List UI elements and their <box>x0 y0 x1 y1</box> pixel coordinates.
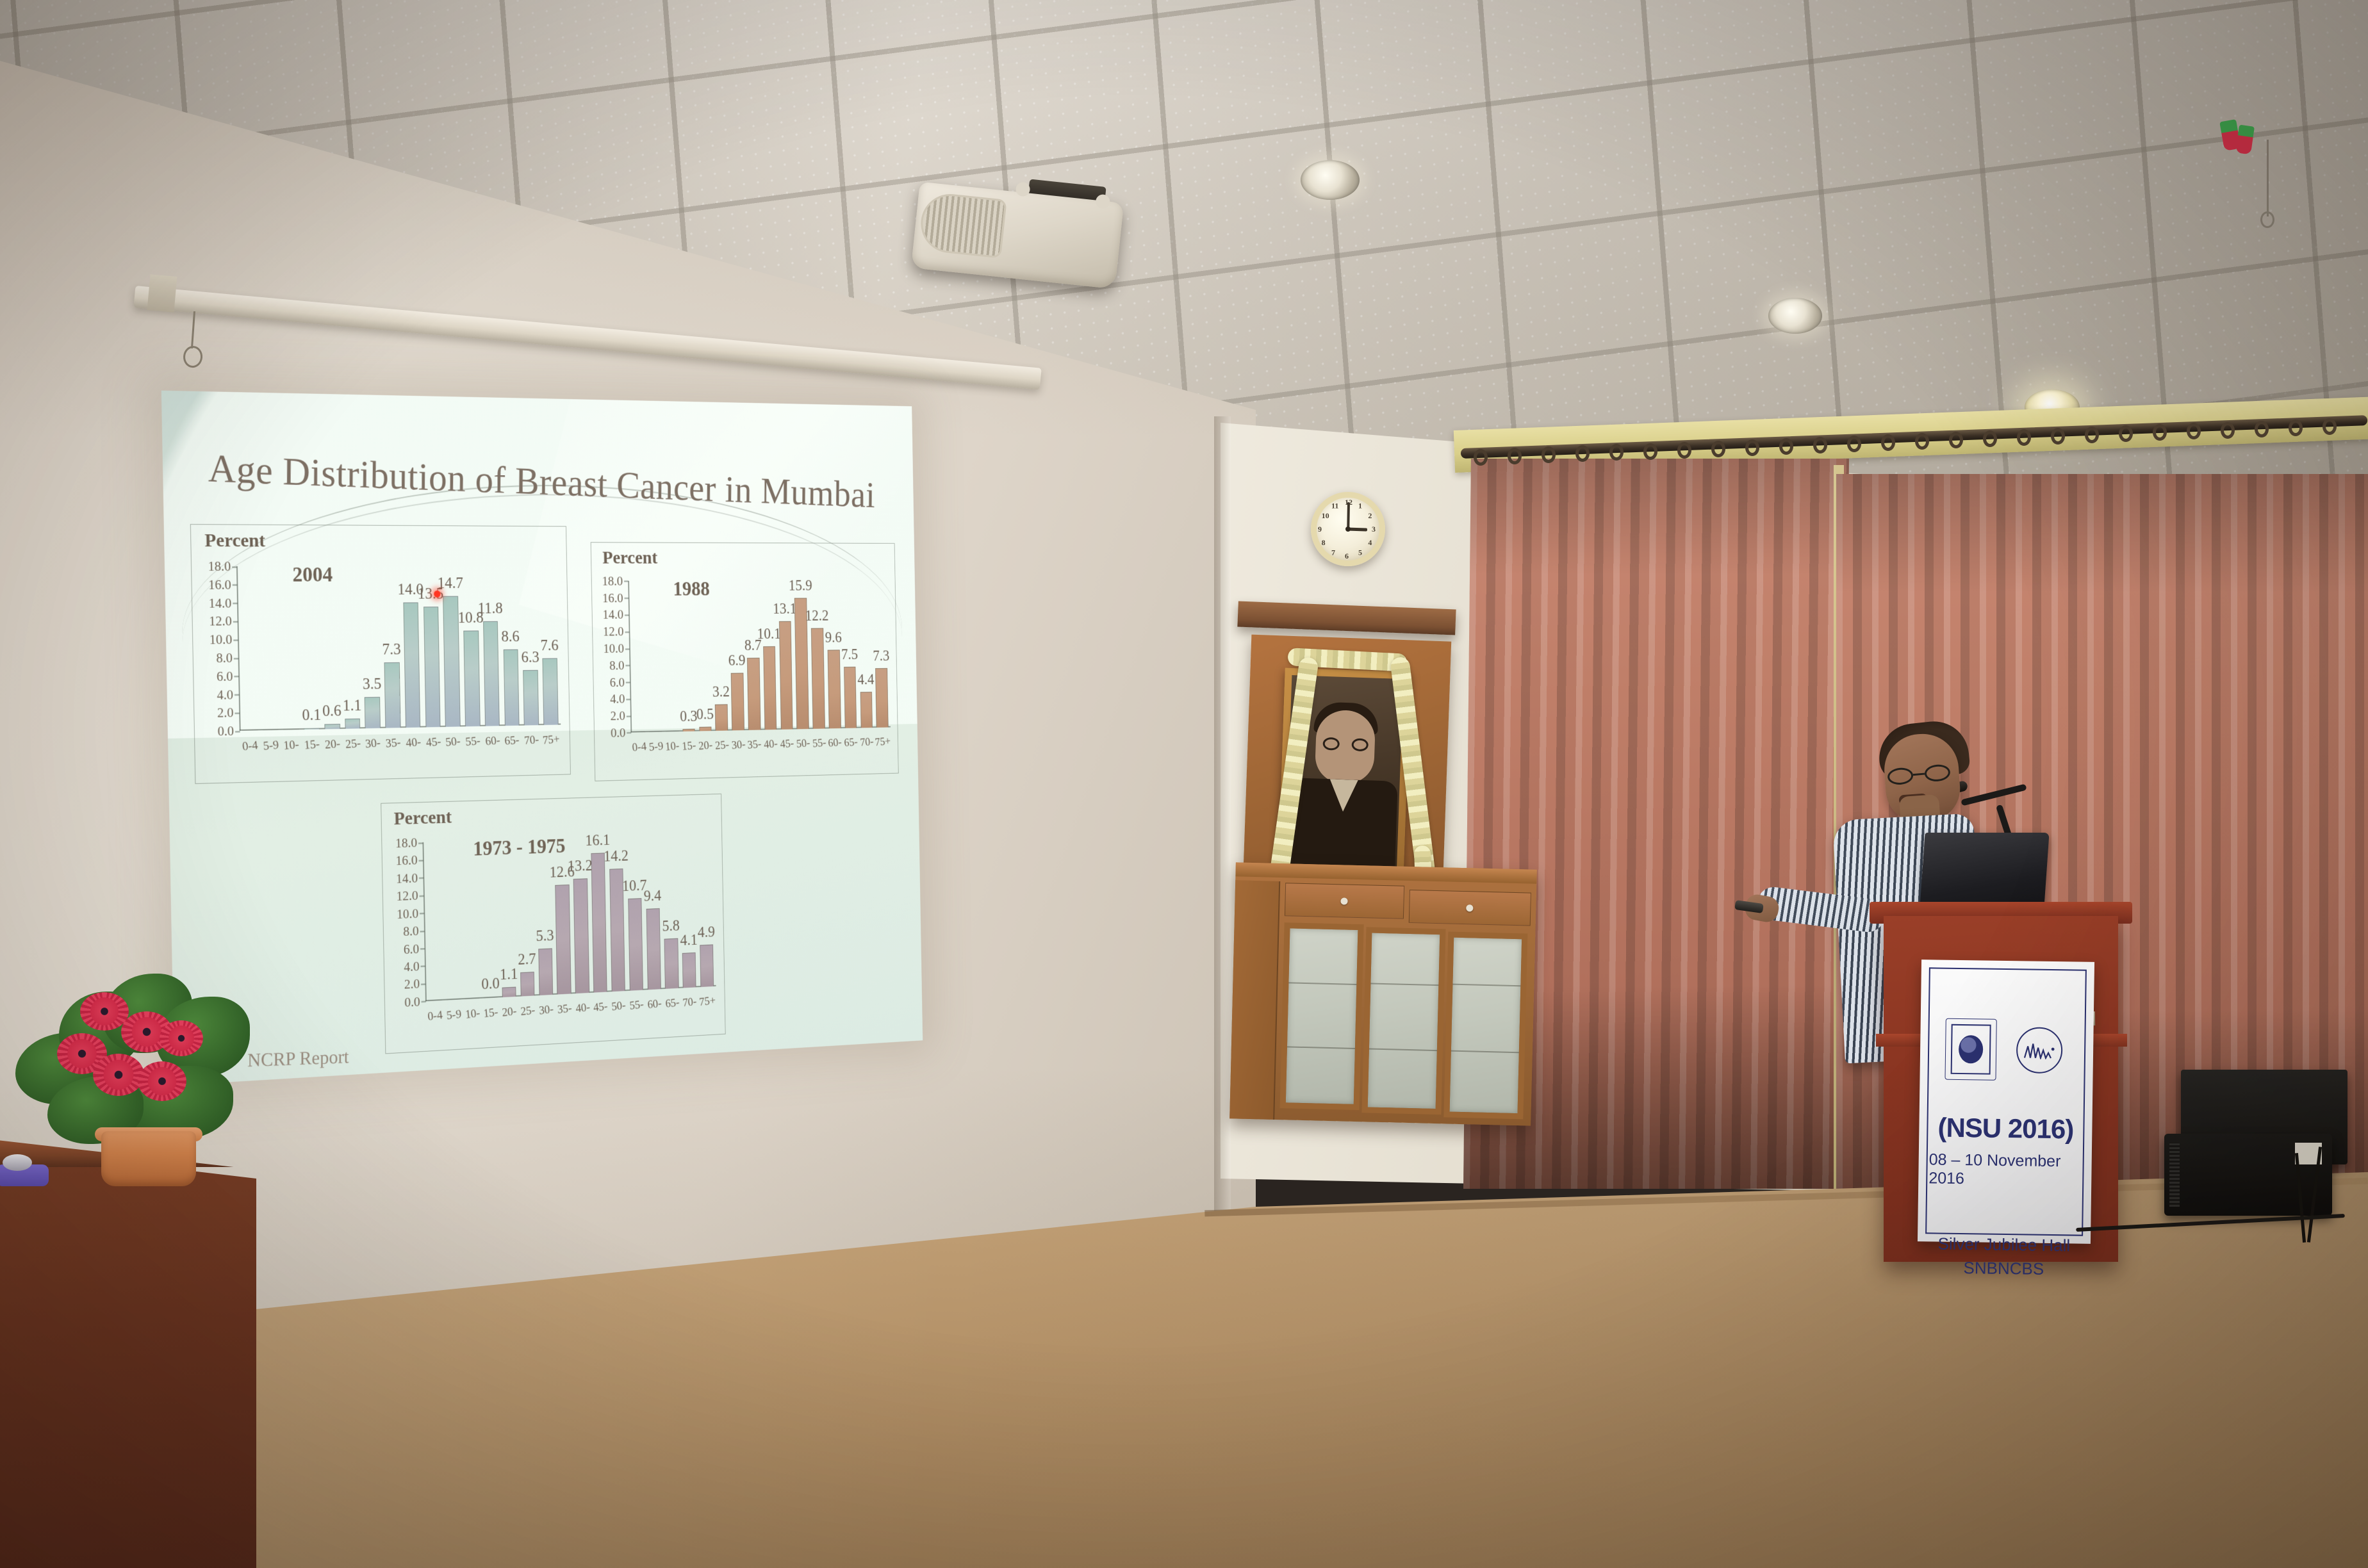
chart-panel-2004: Percent 2004 0.02.04.06.08.010.012.014.0… <box>190 524 571 784</box>
bar-cell: 0.6 <box>319 566 343 730</box>
bar-value-label: 4.4 <box>857 672 874 689</box>
sign-logo-row <box>1951 1024 2063 1075</box>
bar-value-label: 7.3 <box>873 648 889 664</box>
bar <box>465 998 479 999</box>
clock-numeral: 3 <box>1372 525 1376 534</box>
bar <box>345 719 360 729</box>
x-tick-label: 20- <box>322 737 343 753</box>
bar <box>828 649 841 728</box>
bar <box>715 704 728 731</box>
x-tick-label: 45- <box>591 999 611 1015</box>
bar-cell <box>278 566 302 730</box>
chart-plot-area-1973: 0.02.04.06.08.010.012.014.016.018.0 0.01… <box>422 833 716 1001</box>
bar-value-label: 3.5 <box>363 676 382 694</box>
bar <box>779 621 793 730</box>
x-tick-label: 0-4 <box>425 1008 445 1024</box>
bar-cell: 4.1 <box>678 833 698 988</box>
bar <box>520 972 534 996</box>
curtain-ring <box>1779 438 1793 455</box>
bar-value-label: 1.1 <box>500 966 518 984</box>
y-tick-label: 16.0 <box>395 853 423 869</box>
wall-corner <box>1214 416 1231 1217</box>
x-tick-label: 60- <box>645 997 664 1012</box>
clock-numeral: 8 <box>1322 538 1326 548</box>
x-tick-label: 25- <box>713 739 730 753</box>
bar <box>811 628 825 729</box>
curtain-ring <box>1813 437 1827 453</box>
cabinet-glass-door[interactable] <box>1443 931 1527 1119</box>
flower-bloom <box>142 1066 182 1097</box>
clock-numeral: 2 <box>1368 511 1372 521</box>
y-tick-label: 8.0 <box>216 649 238 666</box>
sign-event-dates: 08 – 10 November 2016 <box>1928 1150 2082 1189</box>
desk-object[interactable] <box>0 1164 49 1186</box>
glasses-lens <box>1924 764 1951 782</box>
bar-value-label: 1.1 <box>343 698 362 715</box>
y-tick-label: 14.0 <box>602 607 629 623</box>
bar <box>699 727 712 731</box>
y-tick-label: 0.0 <box>404 993 425 1010</box>
x-tick-label: 5-9 <box>647 740 665 755</box>
x-tick-label: 35- <box>746 738 763 753</box>
chart-axis-label: Percent <box>393 807 452 830</box>
x-tick-label: 30- <box>363 736 384 751</box>
curtain-ring <box>1949 432 1963 448</box>
bar-cell: 13.2 <box>570 837 591 993</box>
x-tick-label: 15- <box>680 739 698 754</box>
sn-bose-centre-logo-icon <box>1951 1024 1991 1075</box>
clock-numeral: 4 <box>1368 538 1372 548</box>
bar <box>731 673 744 731</box>
bar-value-label: 6.9 <box>728 653 746 669</box>
bar <box>283 729 299 730</box>
bar-value-label: 0.3 <box>680 708 698 726</box>
bar <box>242 730 258 731</box>
cabinet-side-panel <box>1229 880 1280 1120</box>
x-tick-label: 15- <box>481 1005 501 1021</box>
x-tick-label: 30- <box>730 738 747 753</box>
bar-cell: 4.9 <box>696 833 716 987</box>
y-tick-label: 2.0 <box>404 976 425 992</box>
sign-hall-name: Silver Jubilee Hall <box>1937 1234 2070 1256</box>
bar-value-label: 7.6 <box>540 637 558 655</box>
x-tick-label: 50- <box>794 737 812 751</box>
y-tick-label: 6.0 <box>217 668 239 684</box>
curtain-ring <box>1711 441 1725 457</box>
y-tick-label: 10.0 <box>209 632 238 648</box>
x-tick-label: 30- <box>536 1002 555 1018</box>
glasses-lens <box>1887 767 1914 785</box>
lecture-hall-photo: Age Distribution of Breast Cancer in Mum… <box>0 0 2368 1568</box>
bar-cell: 2.7 <box>516 838 537 996</box>
y-tick-label: 18.0 <box>395 835 423 851</box>
bar-cell <box>422 842 444 1001</box>
bar-value-label: 7.3 <box>382 641 401 659</box>
y-tick-label: 6.0 <box>610 674 630 690</box>
curtain-ring <box>2255 421 2269 437</box>
curtain-ring <box>1847 436 1861 452</box>
cabinet-drawer[interactable] <box>1285 883 1404 919</box>
x-tick-label: 65- <box>502 733 522 749</box>
bar <box>860 692 873 728</box>
y-tick-label: 10.0 <box>603 641 629 656</box>
bar-cell: 1.1 <box>340 566 363 729</box>
cabinet-shelf-line <box>1370 983 1438 986</box>
x-tick-label: 60- <box>482 734 503 749</box>
presentation-slide: Age Distribution of Breast Cancer in Mum… <box>161 391 923 1086</box>
bar <box>483 621 500 726</box>
bar <box>403 602 420 728</box>
y-tick-label: 4.0 <box>404 958 425 975</box>
x-tick-label: 0-4 <box>239 739 261 755</box>
clock-numeral: 5 <box>1358 548 1362 557</box>
chart-axis-label: Percent <box>204 530 265 552</box>
bar <box>763 646 777 730</box>
bar-cell: 7.6 <box>538 566 561 725</box>
bar <box>591 853 607 992</box>
ceiling-wire-loop <box>2267 140 2269 216</box>
y-tick-label: 0.0 <box>217 723 240 739</box>
ultrasonic-wave-icon <box>2023 1041 2055 1059</box>
clock-numeral: 12 <box>1345 498 1353 507</box>
bar <box>646 908 661 990</box>
x-tick-label: 5-9 <box>260 739 282 755</box>
bar <box>542 658 558 725</box>
y-tick-label: 12.0 <box>396 888 423 904</box>
bar <box>682 729 695 731</box>
sign-organization: SNBNCBS <box>1963 1258 2044 1279</box>
curtain-ring <box>1915 433 1929 450</box>
curtain-ring <box>2289 420 2303 436</box>
bar-value-label: 9.4 <box>644 888 662 906</box>
bar-cell: 10.8 <box>460 566 482 726</box>
bar-cell: 9.4 <box>643 835 663 990</box>
cabinet-shelf-line <box>1369 1048 1437 1051</box>
ceiling-wire-loop-end <box>2260 211 2274 228</box>
bar-value-label: 2.7 <box>518 951 536 969</box>
x-tick-label: 20- <box>500 1004 519 1020</box>
ceiling-downlight <box>1768 298 1822 334</box>
bar <box>484 997 498 998</box>
x-tick-label: 50- <box>443 735 464 750</box>
bar-value-label: 14.7 <box>438 575 464 592</box>
chart-axis-label: Percent <box>602 548 657 568</box>
bar <box>649 731 662 732</box>
x-tick-label: 75+ <box>698 994 717 1009</box>
bar-value-label: 3.2 <box>712 683 730 701</box>
wall-clock: 121234567891011 <box>1311 492 1385 566</box>
bar-cell <box>236 566 260 731</box>
bar-cell: 5.3 <box>534 838 555 995</box>
y-tick-label: 12.0 <box>209 613 238 629</box>
bar <box>324 724 340 730</box>
bar <box>628 898 643 991</box>
bar-value-label: 4.9 <box>698 924 715 942</box>
bar-value-label: 11.8 <box>477 600 502 617</box>
y-tick-label: 14.0 <box>396 870 423 886</box>
x-tick-label: 35- <box>555 1001 574 1017</box>
flower-bloom <box>164 1025 199 1052</box>
curtain-ring <box>1643 443 1657 460</box>
x-tick-label: 10- <box>281 738 302 754</box>
bar-cell: 0.1 <box>299 566 322 730</box>
bar-value-label: 0.0 <box>481 975 500 993</box>
av-amplifier <box>2164 1134 2332 1216</box>
x-tick-label: 65- <box>843 735 859 750</box>
y-tick-label: 2.0 <box>611 708 630 723</box>
cabinet-shelf-line <box>1451 1050 1519 1054</box>
cabinet-shelf-line <box>1288 982 1356 985</box>
bar <box>503 649 519 726</box>
bar <box>523 670 539 726</box>
drawer-knob[interactable] <box>1466 904 1473 911</box>
bar-cell: 0.0 <box>479 840 500 998</box>
chart-panel-1988: Percent 1988 0.02.04.06.08.010.012.014.0… <box>591 543 899 781</box>
ceiling-downlight <box>1301 160 1360 200</box>
x-tick-label: 55- <box>627 997 646 1013</box>
bar <box>447 999 461 1000</box>
y-tick-label: 0.0 <box>611 725 630 740</box>
bar <box>263 730 279 730</box>
bar-cell <box>257 566 281 730</box>
x-tick-label: 50- <box>609 999 629 1014</box>
bar-value-label: 9.6 <box>825 630 842 646</box>
clock-numeral: 11 <box>1331 502 1338 511</box>
x-tick-label: 45- <box>778 737 796 751</box>
x-tick-label: 20- <box>697 739 714 753</box>
bar-cell: 7.3 <box>872 580 891 728</box>
bar-group: 0.01.12.75.312.613.216.114.210.79.45.84.… <box>422 833 716 1001</box>
bar-value-label: 5.8 <box>662 918 680 936</box>
curtain-ring <box>2221 422 2235 439</box>
cabinet-shelf-line <box>1287 1046 1355 1049</box>
y-tick-label: 10.0 <box>397 905 424 922</box>
y-tick-label: 12.0 <box>603 624 629 639</box>
y-tick-label: 8.0 <box>609 658 629 673</box>
clock-center-pin <box>1345 527 1351 532</box>
bar <box>423 607 441 728</box>
x-tick-label: 10- <box>463 1006 482 1022</box>
flower-bloom <box>97 1058 140 1091</box>
sign-event-name: (NSU 2016) <box>1937 1113 2073 1145</box>
chart-plot-area-1988: 0.02.04.06.08.010.012.014.016.018.0 0.30… <box>628 580 891 732</box>
bar-cell: 8.6 <box>499 566 522 726</box>
clock-numeral: 10 <box>1322 511 1329 521</box>
bar-cell: 5.8 <box>661 834 681 989</box>
clock-hour-hand <box>1348 528 1367 532</box>
x-tick-label: 5-9 <box>444 1007 464 1023</box>
projection-screen: Age Distribution of Breast Cancer in Mum… <box>161 391 923 1086</box>
bar-cell: 6.3 <box>519 566 541 725</box>
bar <box>747 658 761 730</box>
bar-cell: 14.7 <box>440 566 463 727</box>
screen-roller-bracket <box>147 274 177 313</box>
clock-numeral: 1 <box>1358 502 1362 511</box>
x-tick-label: 40- <box>403 735 424 751</box>
x-tick-label: 15- <box>301 737 323 753</box>
bar-cell: 10.7 <box>625 835 645 991</box>
podium-event-sign: (NSU 2016) 08 – 10 November 2016 Silver … <box>1918 960 2094 1244</box>
curtain-ring <box>2017 429 2031 446</box>
y-tick-label: 16.0 <box>602 590 629 605</box>
x-tick-label: 35- <box>382 736 404 751</box>
bar <box>700 945 714 987</box>
x-tick-label: 70- <box>859 735 875 750</box>
x-tick-label: 40- <box>573 1000 592 1016</box>
bar <box>384 662 401 728</box>
bar <box>632 731 645 732</box>
cabinet-glass-door[interactable] <box>1361 927 1445 1115</box>
bar-group: 0.30.53.26.98.710.113.115.912.29.67.54.4… <box>628 580 891 732</box>
y-tick-label: 18.0 <box>602 573 628 589</box>
x-tick-label: 25- <box>342 737 363 752</box>
bar-value-label: 4.1 <box>680 931 698 949</box>
foreground-table <box>0 1145 256 1568</box>
bar <box>573 879 589 993</box>
bar-cell: 14.2 <box>607 836 627 992</box>
x-tick-label: 75+ <box>875 735 891 749</box>
glasses-bridge <box>1913 773 1925 776</box>
chart-panel-1973-1975: Percent 1973 - 1975 0.02.04.06.08.010.01… <box>381 794 726 1054</box>
x-tick-label: 70- <box>680 995 699 1010</box>
bar-value-label: 0.6 <box>322 702 341 720</box>
bar <box>844 667 857 728</box>
y-tick-label: 16.0 <box>208 576 237 592</box>
flower-pot <box>101 1131 196 1186</box>
bar <box>304 728 319 730</box>
x-tick-group: 0-45-910-15-20-25-30-35-40-45-50-55-60-6… <box>240 733 561 754</box>
bar-group: 0.10.61.13.57.314.013.514.710.811.88.66.… <box>236 566 561 731</box>
x-tick-label: 55- <box>463 734 483 749</box>
bar <box>666 731 678 731</box>
x-tick-label: 45- <box>423 735 444 751</box>
cabinet-glass-door[interactable] <box>1280 922 1364 1110</box>
bar <box>365 697 381 729</box>
x-tick-label: 60- <box>826 736 843 751</box>
curtain-ring <box>1881 434 1895 451</box>
bar <box>427 1000 441 1001</box>
clock-numeral: 9 <box>1318 525 1322 534</box>
bar <box>538 949 553 995</box>
bar-value-label: 5.3 <box>536 927 554 945</box>
x-tick-group: 0-45-910-15-20-25-30-35-40-45-50-55-60-6… <box>630 735 891 754</box>
bar-cell <box>441 841 463 1000</box>
y-tick-label: 2.0 <box>217 705 240 721</box>
y-tick-label: 8.0 <box>403 923 424 940</box>
bar <box>502 987 516 997</box>
cabinet-drawer[interactable] <box>1409 890 1531 926</box>
bar-value-label: 8.6 <box>501 629 520 646</box>
chart-plot-area-2004: 0.02.04.06.08.010.012.014.016.018.0 0.10… <box>236 566 561 731</box>
bar <box>555 885 571 995</box>
x-tick-label: 40- <box>762 737 780 752</box>
cabinet-shelf-line <box>1452 984 1520 987</box>
y-tick-label: 6.0 <box>404 940 425 957</box>
bar-value-label: 0.5 <box>696 706 714 724</box>
y-tick-label: 4.0 <box>217 687 239 703</box>
amplifier-vent <box>2169 1143 2180 1207</box>
x-tick-label: 70- <box>522 733 542 749</box>
x-tick-label: 65- <box>663 995 682 1011</box>
bar <box>682 952 696 988</box>
curtain-ring <box>2323 418 2337 435</box>
drawer-knob[interactable] <box>1340 897 1347 904</box>
x-tick-label: 10- <box>664 739 682 754</box>
slide-source-footer: NCRP Report <box>247 1047 349 1072</box>
curtain-ring <box>1677 442 1691 459</box>
x-tick-label: 0-4 <box>630 740 648 755</box>
bar-cell: 11.8 <box>480 566 502 726</box>
x-tick-label: 25- <box>518 1003 538 1019</box>
y-tick-label: 18.0 <box>208 559 236 575</box>
bar <box>875 668 888 728</box>
bar <box>664 938 678 989</box>
ultrasonics-society-logo-icon <box>2016 1027 2063 1074</box>
bar <box>463 630 480 726</box>
bar-cell: 3.5 <box>360 566 383 728</box>
bar-cell: 1.1 <box>497 839 518 997</box>
flower-bloom <box>85 997 124 1026</box>
bar-value-label: 7.5 <box>841 646 858 663</box>
clock-numeral: 6 <box>1345 551 1349 561</box>
x-tick-label: 55- <box>810 736 828 751</box>
curtain-ring <box>1983 430 1997 447</box>
wooden-display-cabinet <box>1229 862 1537 1125</box>
x-tick-label: 75+ <box>541 733 561 748</box>
bar-cell <box>460 840 482 999</box>
curtain-ring <box>1745 439 1759 456</box>
y-tick-label: 14.0 <box>208 595 237 611</box>
bar-value-label: 0.1 <box>302 706 321 724</box>
clock-numeral: 7 <box>1331 548 1335 557</box>
bar-value-label: 6.3 <box>521 649 539 666</box>
y-tick-label: 4.0 <box>610 691 630 706</box>
